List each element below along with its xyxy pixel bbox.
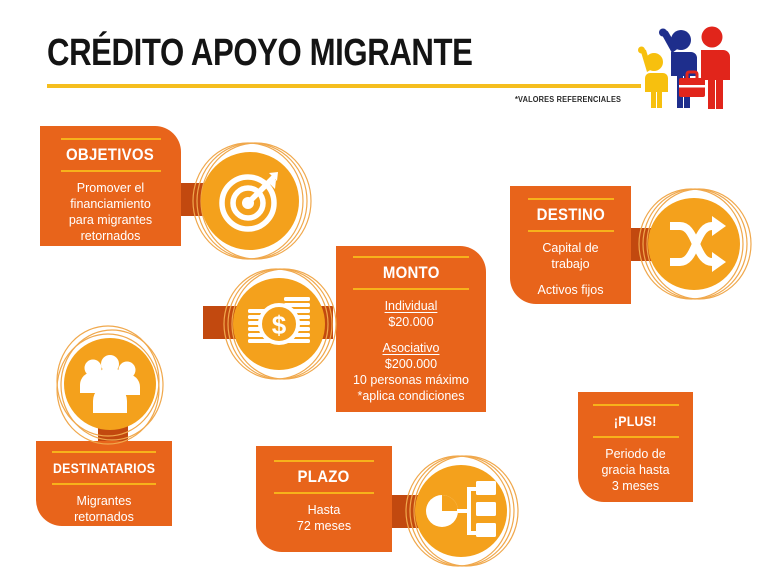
card-rule-top (274, 460, 374, 462)
card-title-objetivos: OBJETIVOS (66, 144, 154, 166)
card-body-destinatarios: Migrantes retornados (74, 493, 134, 525)
card-body-destino: Capital de trabajo Activos fijos (538, 240, 604, 298)
card-plus[interactable]: ¡PLUS! Periodo de gracia hasta 3 meses (578, 392, 693, 502)
card-rule-top (528, 198, 614, 200)
card-rule-bottom (52, 483, 156, 485)
card-line-individual-label: Individual (353, 298, 469, 314)
card-rule-top (52, 451, 156, 453)
badge-objetivos[interactable] (190, 140, 320, 262)
page-title: CRÉDITO APOYO MIGRANTE (47, 31, 473, 75)
card-line: financiamiento (69, 196, 152, 212)
card-line-asociativo-label: Asociativo (353, 340, 469, 356)
card-line: retornados (69, 228, 152, 244)
card-title-destinatarios: DESTINATARIOS (53, 457, 155, 479)
card-line: retornados (74, 509, 134, 525)
card-objetivos[interactable]: OBJETIVOS Promover el financiamiento par… (40, 126, 181, 246)
card-line: Promover el (69, 180, 152, 196)
card-rule-bottom (274, 492, 374, 494)
card-rule-top (61, 138, 161, 140)
card-line: 3 meses (601, 478, 669, 494)
card-rule-bottom (61, 170, 161, 172)
card-title-monto: MONTO (383, 262, 440, 284)
card-line: 72 meses (297, 518, 351, 534)
card-rule-top (353, 256, 469, 258)
card-line: trabajo (538, 256, 604, 272)
card-body-plus: Periodo de gracia hasta 3 meses (601, 446, 669, 494)
card-line: para migrantes (69, 212, 152, 228)
card-line-asociativo-amount: $200.000 (353, 356, 469, 372)
card-rule-top (593, 404, 679, 406)
logo-figure-yellow (638, 47, 668, 109)
card-line: Hasta (297, 502, 351, 518)
card-body-objetivos: Promover el financiamiento para migrante… (69, 180, 152, 244)
card-title-destino: DESTINO (536, 204, 604, 226)
infographic-canvas: CRÉDITO APOYO MIGRANTE *VALORES REFERENC… (0, 0, 768, 576)
card-rule-bottom (528, 230, 614, 232)
card-line: gracia hasta (601, 462, 669, 478)
logo-figure-red (701, 27, 730, 110)
badge-monto[interactable]: $ (222, 266, 346, 384)
card-rule-bottom (353, 288, 469, 290)
card-line: Activos fijos (538, 282, 604, 298)
card-line-conditions: *aplica condiciones (353, 388, 469, 404)
card-body-monto: Individual $20.000 Asociativo $200.000 1… (353, 298, 469, 404)
badge-destinatarios[interactable] (53, 323, 177, 445)
badge-plazo[interactable] (404, 453, 528, 571)
dollar-sign-icon: $ (272, 310, 287, 340)
card-spacer (538, 272, 604, 282)
card-spacer (353, 330, 469, 340)
reference-values-note: *VALORES REFERENCIALES (515, 95, 621, 104)
card-body-plazo: Hasta 72 meses (297, 502, 351, 534)
card-plazo[interactable]: PLAZO Hasta 72 meses (256, 446, 392, 552)
card-destinatarios[interactable]: DESTINATARIOS Migrantes retornados (36, 441, 172, 526)
card-line: Periodo de (601, 446, 669, 462)
card-title-plus: ¡PLUS! (614, 410, 657, 432)
card-line: Capital de (538, 240, 604, 256)
card-monto[interactable]: MONTO Individual $20.000 Asociativo $200… (336, 246, 486, 412)
card-line: Migrantes (74, 493, 134, 509)
badge-destino[interactable] (637, 186, 761, 304)
title-underline-rule (47, 84, 641, 88)
card-line-max-personas: 10 personas máximo (353, 372, 469, 388)
migrant-family-logo (627, 20, 737, 110)
card-title-plazo: PLAZO (298, 466, 350, 488)
card-rule-bottom (593, 436, 679, 438)
card-line-individual-amount: $20.000 (353, 314, 469, 330)
card-destino[interactable]: DESTINO Capital de trabajo Activos fijos (510, 186, 631, 304)
